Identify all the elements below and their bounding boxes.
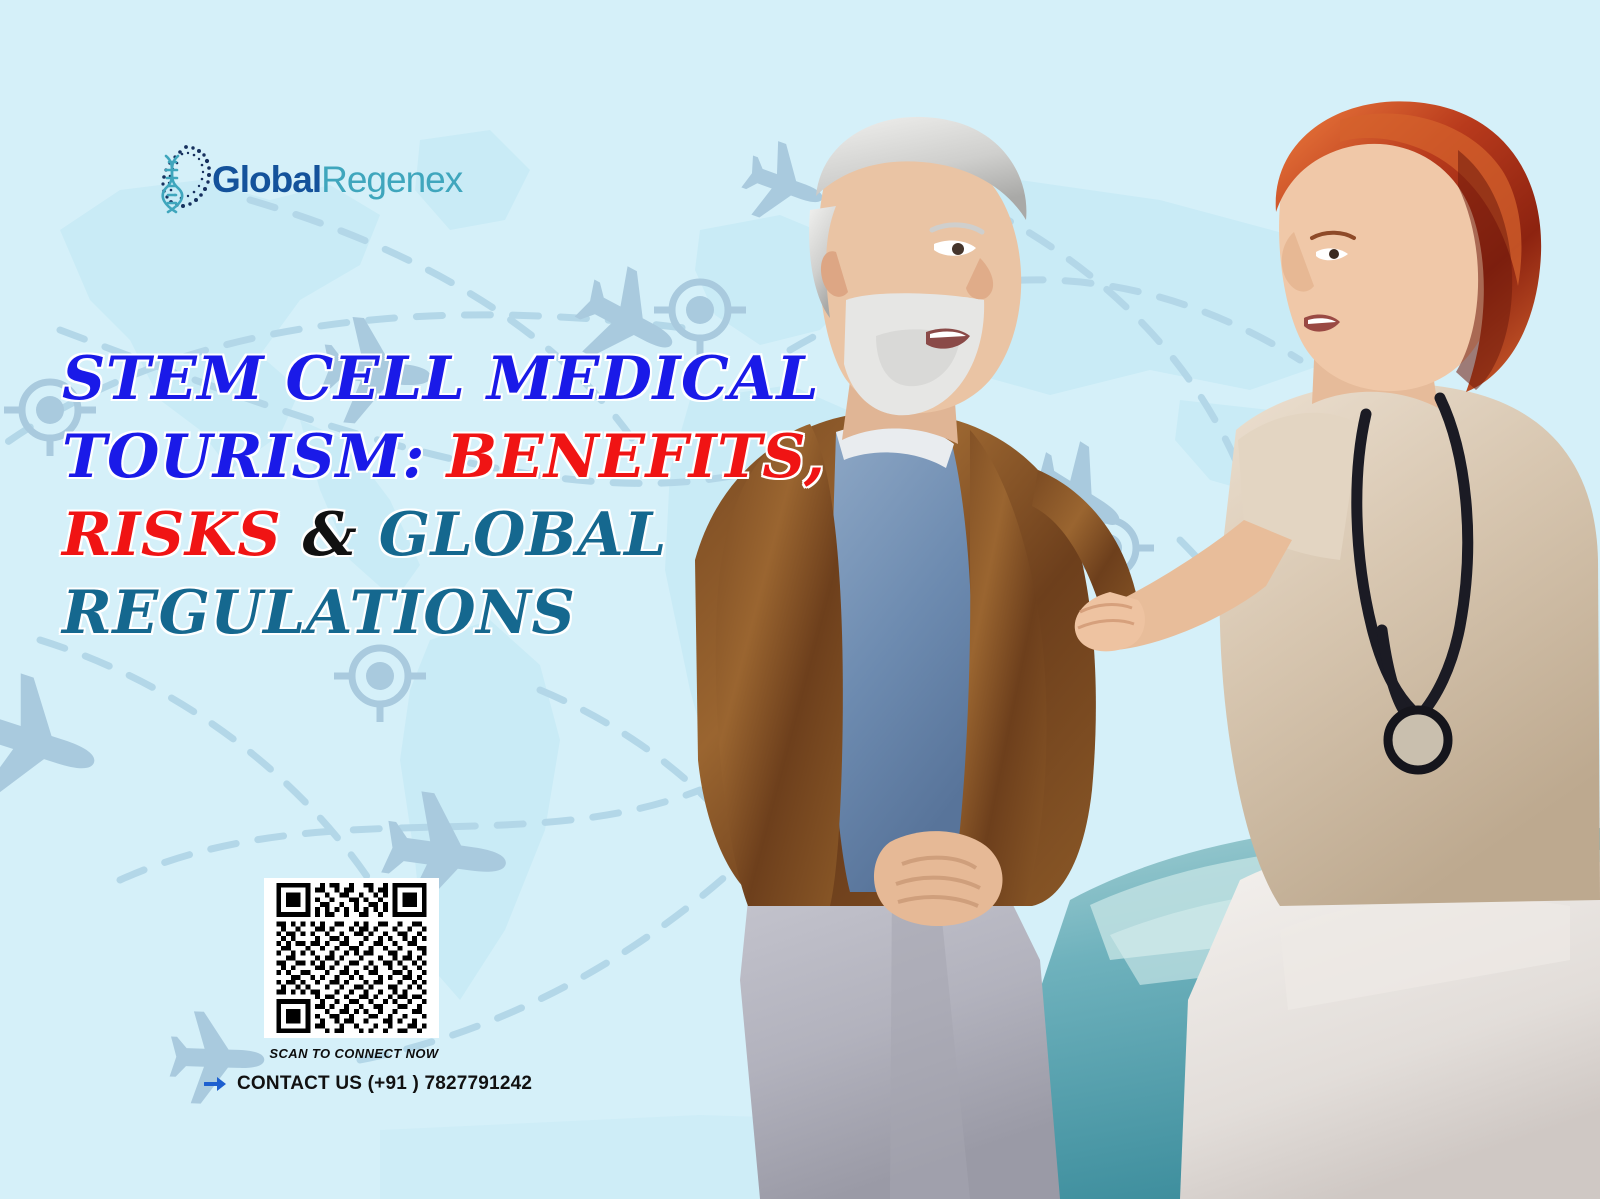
headline-stem-cell-medical: STEM CELL MEDICAL <box>62 344 819 414</box>
brand-logo-primary: Global <box>212 159 321 200</box>
headline-line-3: RISKS & GLOBAL <box>62 496 862 574</box>
dna-globe-icon <box>152 140 216 216</box>
headline-regulations: REGULATIONS <box>62 578 575 648</box>
headline-benefits: BENEFITS, <box>446 422 825 492</box>
headline-line-1: STEM CELL MEDICAL <box>62 340 862 418</box>
brand-logo-secondary: Regenex <box>321 159 462 200</box>
qr-code[interactable] <box>264 878 439 1038</box>
poster-canvas: GlobalRegenex STEM CELL MEDICAL TOURISM:… <box>0 0 1600 1199</box>
qr-block: SCAN TO CONNECT NOW <box>264 878 444 1061</box>
headline-tourism: TOURISM: <box>62 422 425 492</box>
arrow-right-icon <box>204 1074 228 1094</box>
headline-line-2: TOURISM: BENEFITS, <box>62 418 862 496</box>
headline-global: GLOBAL <box>379 500 667 570</box>
page-title: STEM CELL MEDICAL TOURISM: BENEFITS, RIS… <box>62 340 862 652</box>
contact-label: CONTACT US (+91 ) 7827791242 <box>237 1073 532 1095</box>
brand-logo-text: GlobalRegenex <box>212 161 462 198</box>
headline-risks: RISKS <box>62 500 281 570</box>
contact-row[interactable]: CONTACT US (+91 ) 7827791242 <box>204 1073 532 1095</box>
brand-logo[interactable]: GlobalRegenex <box>152 138 422 218</box>
qr-caption: SCAN TO CONNECT NOW <box>264 1046 444 1061</box>
clasped-hands <box>874 831 1003 926</box>
headline-line-4: REGULATIONS <box>62 574 862 652</box>
headline-ampersand: & <box>303 500 358 570</box>
